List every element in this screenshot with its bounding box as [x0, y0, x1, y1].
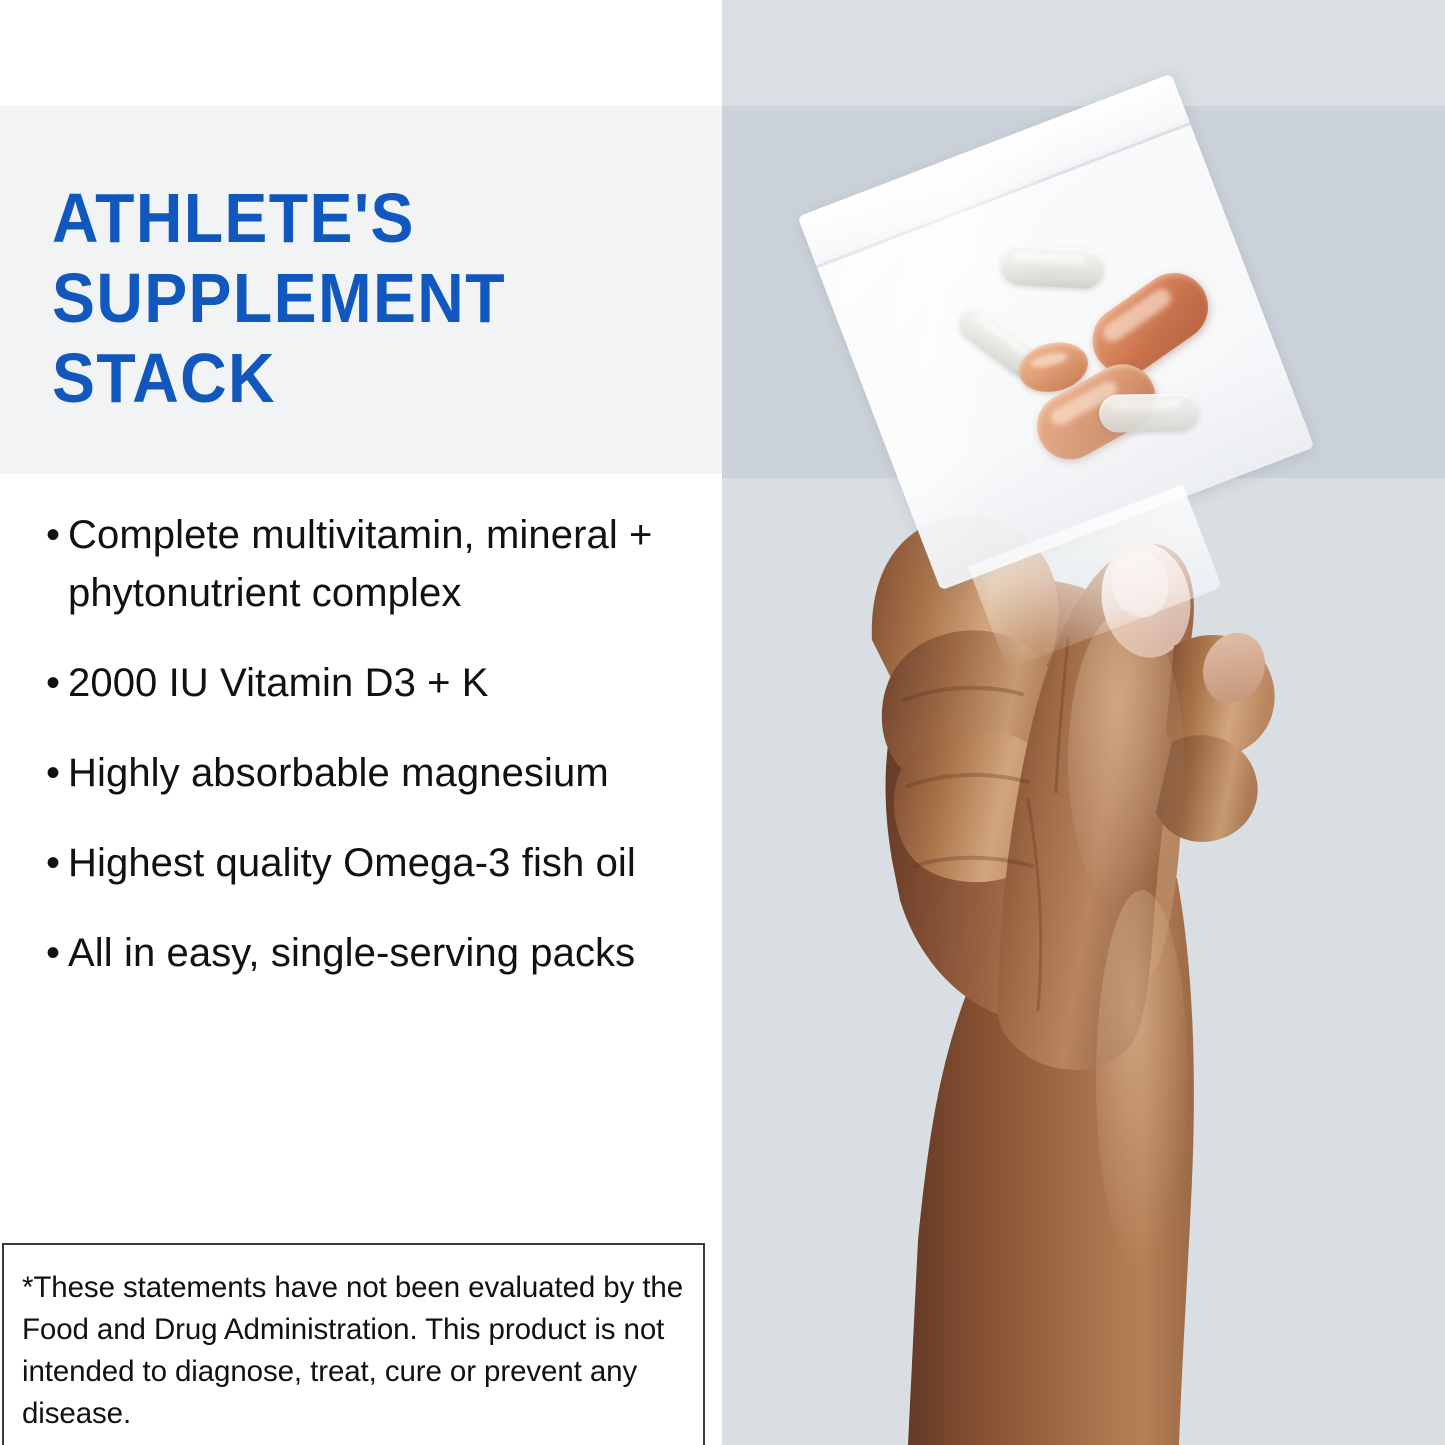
product-infographic: ATHLETE'S SUPPLEMENT STACK • Complete mu…	[0, 0, 1445, 1445]
bullet-icon: •	[44, 506, 68, 564]
list-item: • Highest quality Omega-3 fish oil	[44, 834, 684, 892]
list-item-label: Highly absorbable magnesium	[68, 744, 684, 802]
list-item-label: Complete multivitamin, mineral + phytonu…	[68, 506, 684, 622]
hand-highlight	[1068, 610, 1184, 910]
list-item: • All in easy, single-serving packs	[44, 924, 684, 982]
list-item-label: Highest quality Omega-3 fish oil	[68, 834, 684, 892]
bullet-icon: •	[44, 924, 68, 982]
bullet-icon: •	[44, 744, 68, 802]
list-item-label: 2000 IU Vitamin D3 + K	[68, 654, 684, 712]
list-item-label: All in easy, single-serving packs	[68, 924, 684, 982]
wrist-highlight	[1096, 890, 1188, 1270]
feature-list: • Complete multivitamin, mineral + phyto…	[44, 506, 684, 1014]
left-content-panel: ATHLETE'S SUPPLEMENT STACK • Complete mu…	[0, 0, 722, 1445]
bullet-icon: •	[44, 654, 68, 712]
list-item: • Complete multivitamin, mineral + phyto…	[44, 506, 684, 622]
title-line-3: STACK	[52, 338, 641, 418]
bullet-icon: •	[44, 834, 68, 892]
product-photo	[722, 0, 1445, 1445]
list-item: • Highly absorbable magnesium	[44, 744, 684, 802]
list-item: • 2000 IU Vitamin D3 + K	[44, 654, 684, 712]
pill-white-capsule-upper	[999, 244, 1105, 289]
title-line-1: ATHLETE'S	[52, 178, 641, 258]
fda-disclaimer-text: *These statements have not been evaluate…	[22, 1267, 690, 1435]
fda-disclaimer-box: *These statements have not been evaluate…	[2, 1243, 705, 1445]
page-title: ATHLETE'S SUPPLEMENT STACK	[52, 178, 692, 418]
title-line-2: SUPPLEMENT	[52, 258, 641, 338]
